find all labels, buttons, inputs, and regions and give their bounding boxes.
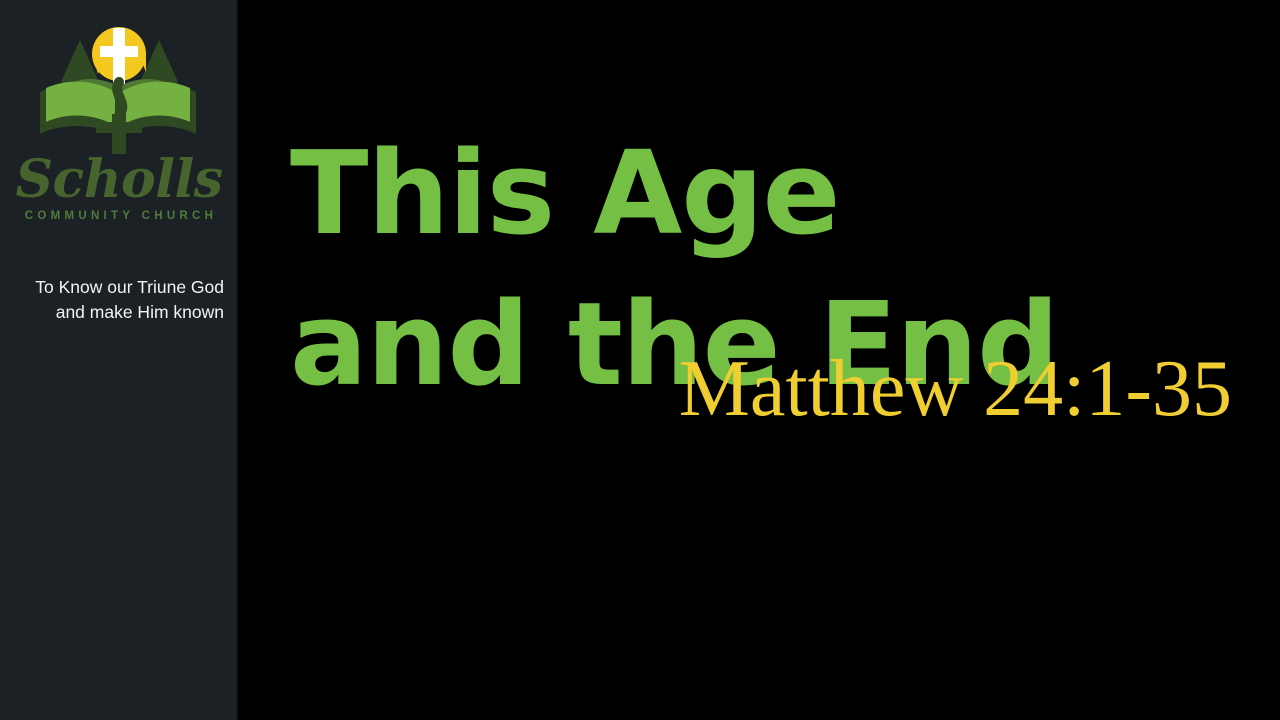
tagline-line-2: and make Him known [0,300,224,325]
sermon-title-slide: Scholls COMMUNITY CHURCH To Know our Tri… [0,0,1280,720]
slide-content-area: This Age and the End Matthew 24:1-35 [238,0,1280,720]
scripture-reference: Matthew 24:1-35 [290,345,1232,433]
sermon-title-line-1: This Age [290,113,1250,276]
tagline-line-1: To Know our Triune God [0,275,224,300]
sidebar: Scholls COMMUNITY CHURCH To Know our Tri… [0,0,238,720]
open-bible-mountains-cross-logo-icon [36,22,202,157]
logo-subtitle: COMMUNITY CHURCH [0,210,238,222]
church-tagline: To Know our Triune God and make Him know… [0,275,224,325]
church-logo: Scholls COMMUNITY CHURCH [0,22,238,222]
logo-wordmark: Scholls [0,153,238,206]
